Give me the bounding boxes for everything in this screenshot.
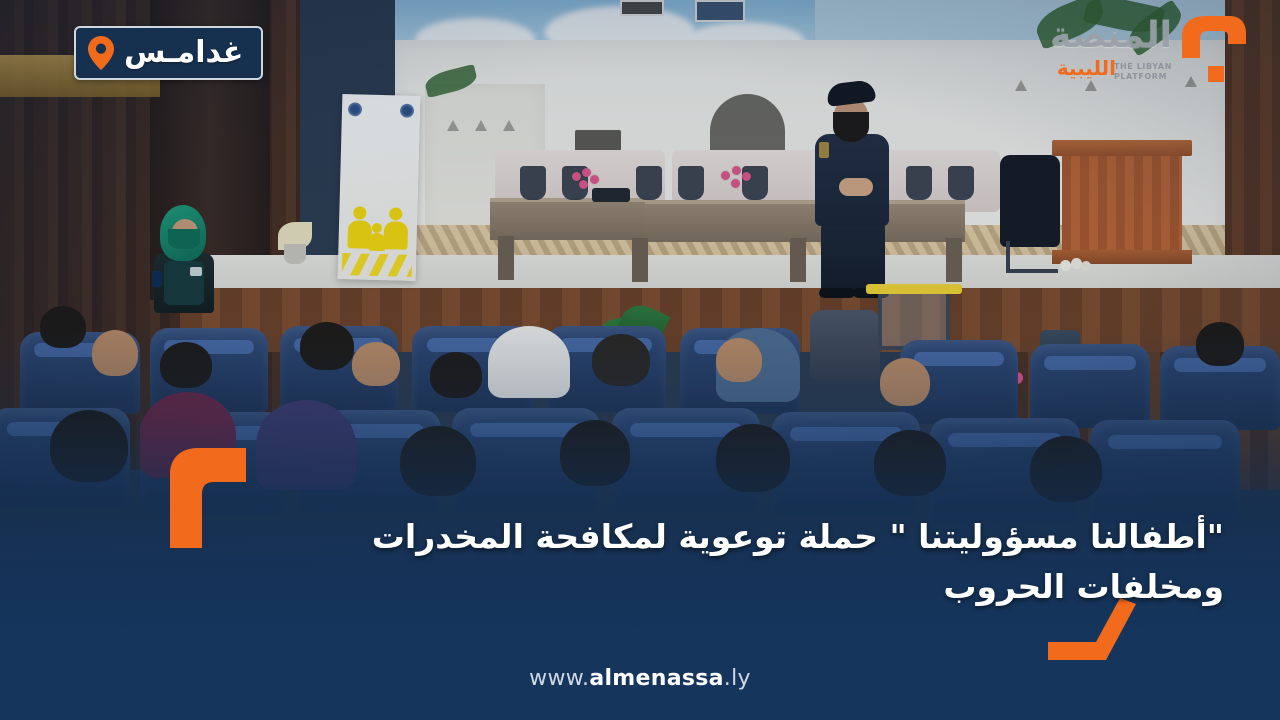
- brand-logo: المنصة الليبية THE LIBYAN PLATFORM: [1022, 14, 1252, 90]
- url-domain: almenassa: [589, 666, 723, 691]
- panel-chair: [948, 166, 974, 200]
- table-leg: [946, 238, 962, 282]
- podium: [1062, 145, 1182, 263]
- banner-child-icon: [372, 223, 382, 233]
- banner-family-icon: [383, 221, 408, 250]
- officer-beard: [833, 112, 869, 142]
- audience-hooded-attendee: [256, 400, 356, 490]
- executive-chair: [1000, 155, 1060, 247]
- projector: [592, 188, 630, 202]
- audience-head: [1196, 322, 1244, 366]
- audience-head: [592, 334, 650, 386]
- brand-wordmark: المنصة الليبية THE LIBYAN PLATFORM: [1022, 14, 1172, 90]
- audience-head: [50, 410, 128, 482]
- mural-wall-frame: [620, 0, 664, 16]
- table-leg: [498, 236, 514, 280]
- banner-family-icon: [389, 207, 402, 220]
- attendee-woman: [150, 205, 220, 310]
- officer-hands: [839, 178, 873, 196]
- table-leg: [790, 238, 806, 282]
- mural-wall-frame: [695, 0, 745, 22]
- audience-head: [352, 342, 400, 386]
- flower-pot: [284, 244, 306, 264]
- brand-latin-line1: THE LIBYAN: [1114, 62, 1172, 71]
- url-tld: .ly: [724, 666, 751, 691]
- table-leg: [632, 238, 648, 282]
- audience-head: [874, 430, 946, 496]
- mobile-phone: [152, 271, 162, 287]
- rollup-banner: [338, 94, 421, 281]
- brand-arabic-name: المنصة: [1050, 18, 1172, 54]
- podium-top: [1052, 140, 1192, 156]
- website-url: www.almenassa.ly: [0, 666, 1280, 691]
- location-badge: غدامـس: [74, 26, 263, 80]
- audience-seat: [1090, 420, 1240, 524]
- audience-head: [716, 424, 790, 492]
- location-pin-icon: [88, 36, 114, 70]
- audience-head: [92, 330, 138, 376]
- officer-rank-insignia: [819, 142, 829, 158]
- panel-chair: [636, 166, 662, 200]
- banner-child-icon: [368, 233, 385, 251]
- panel-table: [645, 200, 810, 242]
- audience-head: [430, 352, 482, 398]
- audience-head: [1030, 436, 1102, 502]
- audience-seat: [1030, 344, 1150, 428]
- url-prefix: www.: [529, 666, 589, 691]
- brand-mark-icon: [1178, 14, 1252, 86]
- flower-arrangement: [716, 166, 756, 200]
- news-graphic-card: غدامـس المنصة الليبية THE LIBYAN PLATFOR…: [0, 0, 1280, 720]
- folding-table-edge: [866, 284, 962, 294]
- audience-head: [880, 358, 930, 406]
- audience-head: [160, 342, 212, 388]
- audience-head: [400, 426, 476, 496]
- banner-family-icon: [353, 206, 366, 219]
- audience-head: [560, 420, 630, 486]
- panel-chair: [520, 166, 546, 200]
- location-label: غدامـس: [124, 38, 243, 68]
- audience-head: [300, 322, 354, 370]
- banner-emblem-right: [400, 104, 414, 118]
- brand-latin-line2: PLATFORM: [1114, 72, 1167, 81]
- brand-arabic-subtitle: الليبية: [1057, 58, 1116, 78]
- audience-hooded-attendee: [488, 326, 570, 398]
- officer-shoe: [819, 288, 855, 298]
- orange-hook-mark-icon: [170, 448, 246, 548]
- audience-head: [716, 338, 762, 382]
- speaker-officer: [805, 82, 901, 297]
- mural-motif: [503, 120, 515, 131]
- audience-head: [40, 306, 86, 348]
- banner-stripes: [342, 253, 413, 277]
- mural-motif: [447, 120, 459, 131]
- panel-chair: [906, 166, 932, 200]
- headline-title: "أطفالنا مسؤوليتنا " حملة توعوية لمكافحة…: [244, 512, 1224, 611]
- woman-id-badge: [190, 267, 202, 276]
- panel-chair: [678, 166, 704, 200]
- panel-table: [490, 198, 650, 240]
- mural-motif: [475, 120, 487, 131]
- podium-flowers: [1060, 258, 1094, 272]
- banner-emblem-left: [348, 102, 362, 116]
- officer-beret: [826, 79, 876, 107]
- brand-latin-name: THE LIBYAN PLATFORM: [1114, 62, 1172, 82]
- woman-veil: [168, 229, 200, 249]
